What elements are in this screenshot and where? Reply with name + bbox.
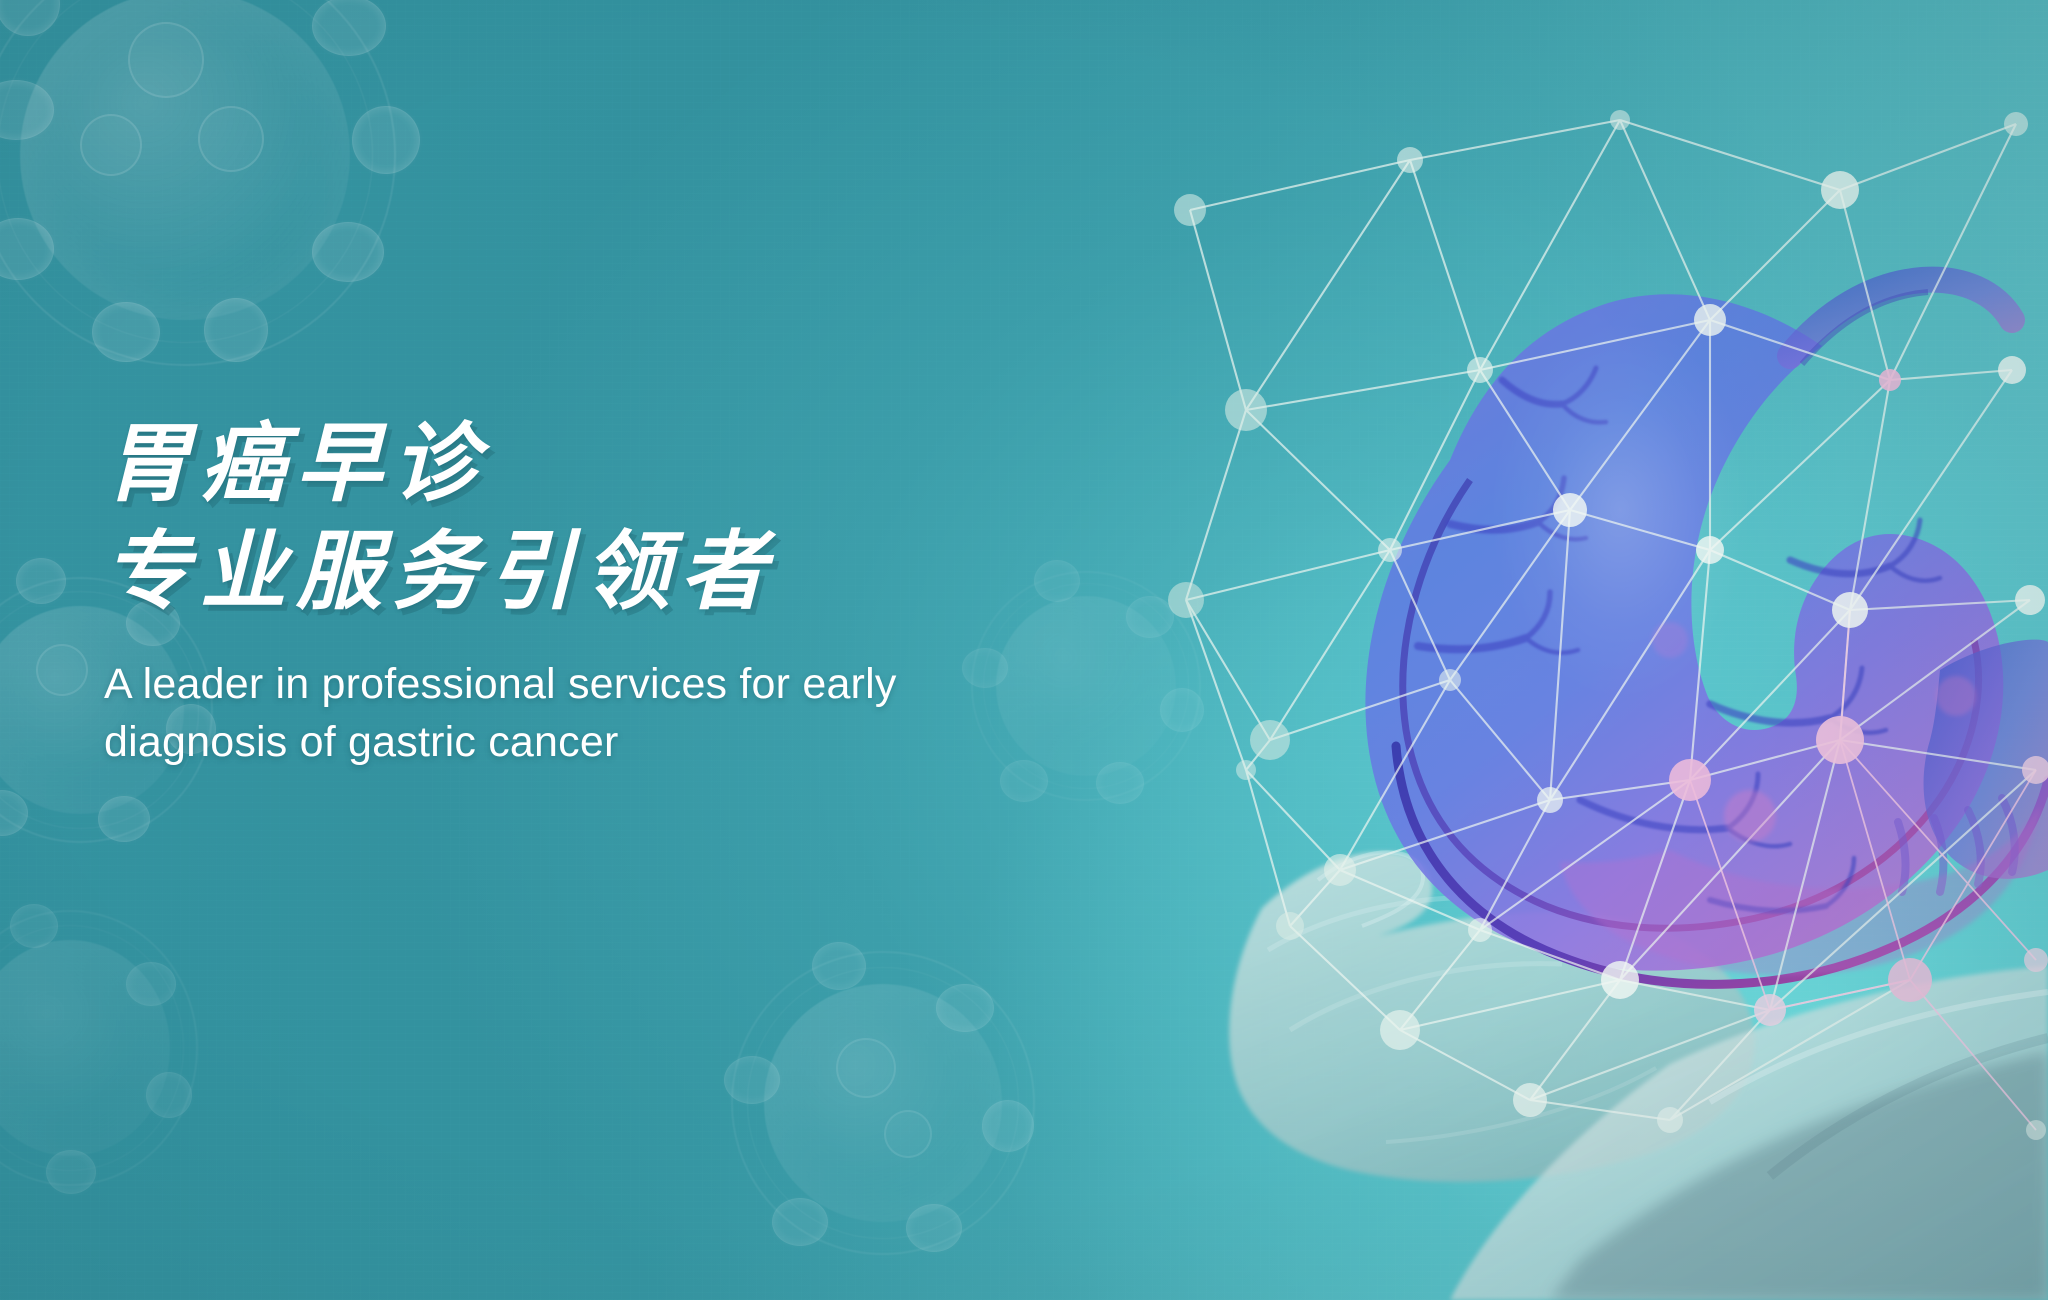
headline-line-1: 胃癌早诊 [104,416,1204,512]
subheadline-line-1: A leader in professional services for ea… [104,660,897,708]
hero-copy: 胃癌早诊 专业服务引领者 A leader in professional se… [104,416,1204,771]
subheadline: A leader in professional services for ea… [104,655,1114,771]
subheadline-line-2: diagnosis of gastric cancer [104,718,619,766]
headline-line-2: 专业服务引领者 [104,524,1204,620]
hero-banner: 胃癌早诊 专业服务引领者 A leader in professional se… [0,0,2048,1300]
